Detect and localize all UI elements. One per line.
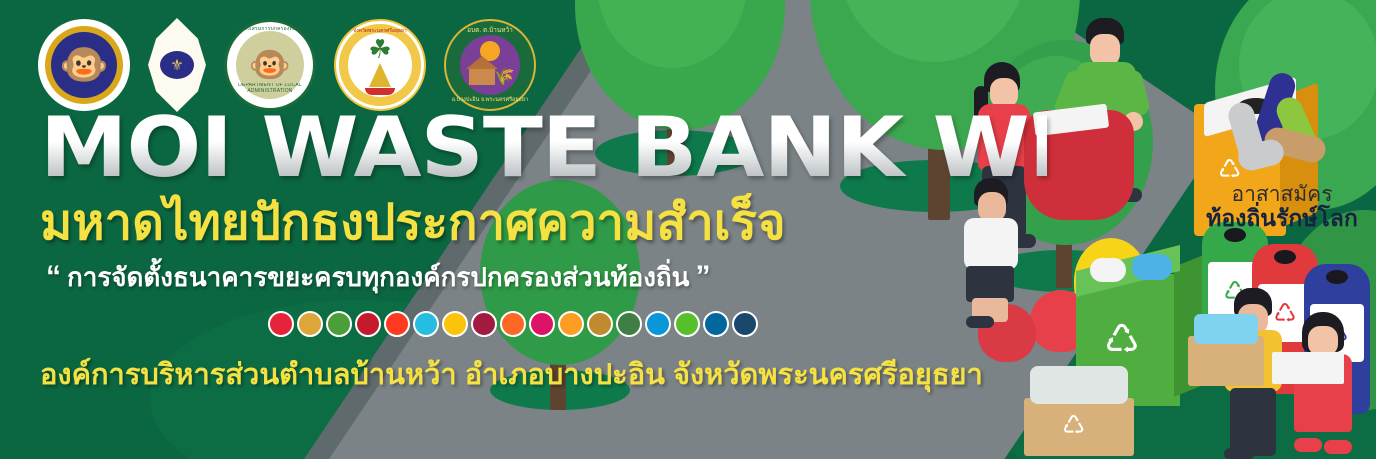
emblem-row: 🐵 ⚜ กรมส่งเสริมการปกครองท้องถิ่น 🐵 DEPAR… [38, 18, 536, 112]
quote-open-mark: “ [40, 260, 67, 293]
sdg-dot-13 [616, 311, 642, 337]
volunteer-logo: อาสาสมัคร ท้องถิ่นรักษ์โลก [1202, 76, 1362, 231]
emblem-ring: 🐵 [45, 26, 123, 104]
dopa-device-icon: ⚜ [170, 56, 183, 74]
volunteer-mark-icon [1228, 76, 1336, 180]
offering-tray-icon [365, 88, 395, 95]
headline-block: MOI WASTE BANK WEEK มหาดไทยปักธงประกาศคว… [40, 108, 990, 397]
sdg-dot-2 [297, 311, 323, 337]
bin-cap [1326, 270, 1348, 284]
moi-waste-bank-week-banner: 🐵 ⚜ กรมส่งเสริมการปกครองท้องถิ่น 🐵 DEPAR… [0, 0, 1376, 459]
emblem-ayutthaya-province: จังหวัดพระนครศรีอยุธยา ☘ [334, 19, 426, 111]
recycle-icon: ♺ [1104, 320, 1140, 360]
sdg-dot-5 [384, 311, 410, 337]
emblem-department-of-provincial-administration: ⚜ [148, 18, 206, 112]
quote-text: การจัดตั้งธนาคารขยะครบทุกองค์กรปกครองส่ว… [67, 262, 689, 292]
sdg-dot-11 [558, 311, 584, 337]
volunteer-logo-line2: ท้องถิ่นรักษ์โลก [1202, 206, 1362, 231]
sdg-dot-16 [703, 311, 729, 337]
emblem-top-text: อบต. ต.บ้านหว้า [450, 28, 530, 35]
house-icon [469, 69, 495, 85]
sdg-dot-1 [268, 311, 294, 337]
shoe [1324, 440, 1352, 454]
emblem-arc-top-text: กรมส่งเสริมการปกครองท้องถิ่น [233, 27, 307, 47]
singha-lion-icon: 🐵 [59, 45, 109, 85]
emblem-scene: ☘ [365, 36, 395, 95]
sdg-dot-12 [587, 311, 613, 337]
organization-line: องค์การบริหารส่วนตำบลบ้านหว้า อำเภอบางปะ… [40, 351, 990, 397]
sdg-dot-7 [442, 311, 468, 337]
quote-close-mark: ” [689, 260, 716, 293]
emblem-sao-ban-wa: อบต. ต.บ้านหว้า 🌾 อ.บางปะอิน จ.พระนครศรี… [444, 19, 536, 111]
person-woman-red-dress [1286, 312, 1364, 459]
headline-thai: มหาดไทยปักธงประกาศความสำเร็จ [40, 196, 990, 251]
sdg-dot-4 [355, 311, 381, 337]
bottles-in-crate [1194, 314, 1258, 344]
legs [1230, 388, 1276, 456]
emblem-inner-disc: 🐵 [51, 32, 117, 98]
sdg-dot-9 [500, 311, 526, 337]
waste-in-bin [1090, 258, 1126, 282]
newspaper-stack [1272, 352, 1344, 384]
rice-stalk-icon: 🌾 [494, 67, 515, 87]
emblem-inner-disc: 🌾 [460, 35, 520, 95]
bin-cap [1274, 250, 1296, 264]
volunteer-logo-line1: อาสาสมัคร [1202, 184, 1362, 206]
sdg-dot-10 [529, 311, 555, 337]
sdg-dot-6 [413, 311, 439, 337]
shoe [1224, 448, 1254, 459]
sdg-dot-14 [645, 311, 671, 337]
pedestal-icon [369, 63, 391, 87]
sdg-dot-17 [732, 311, 758, 337]
emblem-inner-disc: ⚜ [160, 51, 194, 79]
sdg-dot-3 [326, 311, 352, 337]
emblem-ministry-of-interior: 🐵 [38, 19, 130, 111]
bodhi-tree-icon: ☘ [365, 36, 395, 62]
sdg-dot-8 [471, 311, 497, 337]
sdg-dot-row [268, 311, 990, 337]
quote-line: “การจัดตั้งธนาคารขยะครบทุกองค์กรปกครองส่… [40, 257, 990, 298]
shoe [1294, 438, 1322, 452]
headline-english: MOI WASTE BANK WEEK [40, 108, 1047, 188]
bottles-in-box [1030, 366, 1128, 404]
waste-in-bin [1132, 254, 1172, 280]
sdg-dot-15 [674, 311, 700, 337]
recycle-icon: ♺ [1062, 412, 1085, 438]
singha-lion-icon: 🐵 [249, 45, 291, 85]
emblem-department-of-local-administration: กรมส่งเสริมการปกครองท้องถิ่น 🐵 DEPARTMEN… [224, 19, 316, 111]
